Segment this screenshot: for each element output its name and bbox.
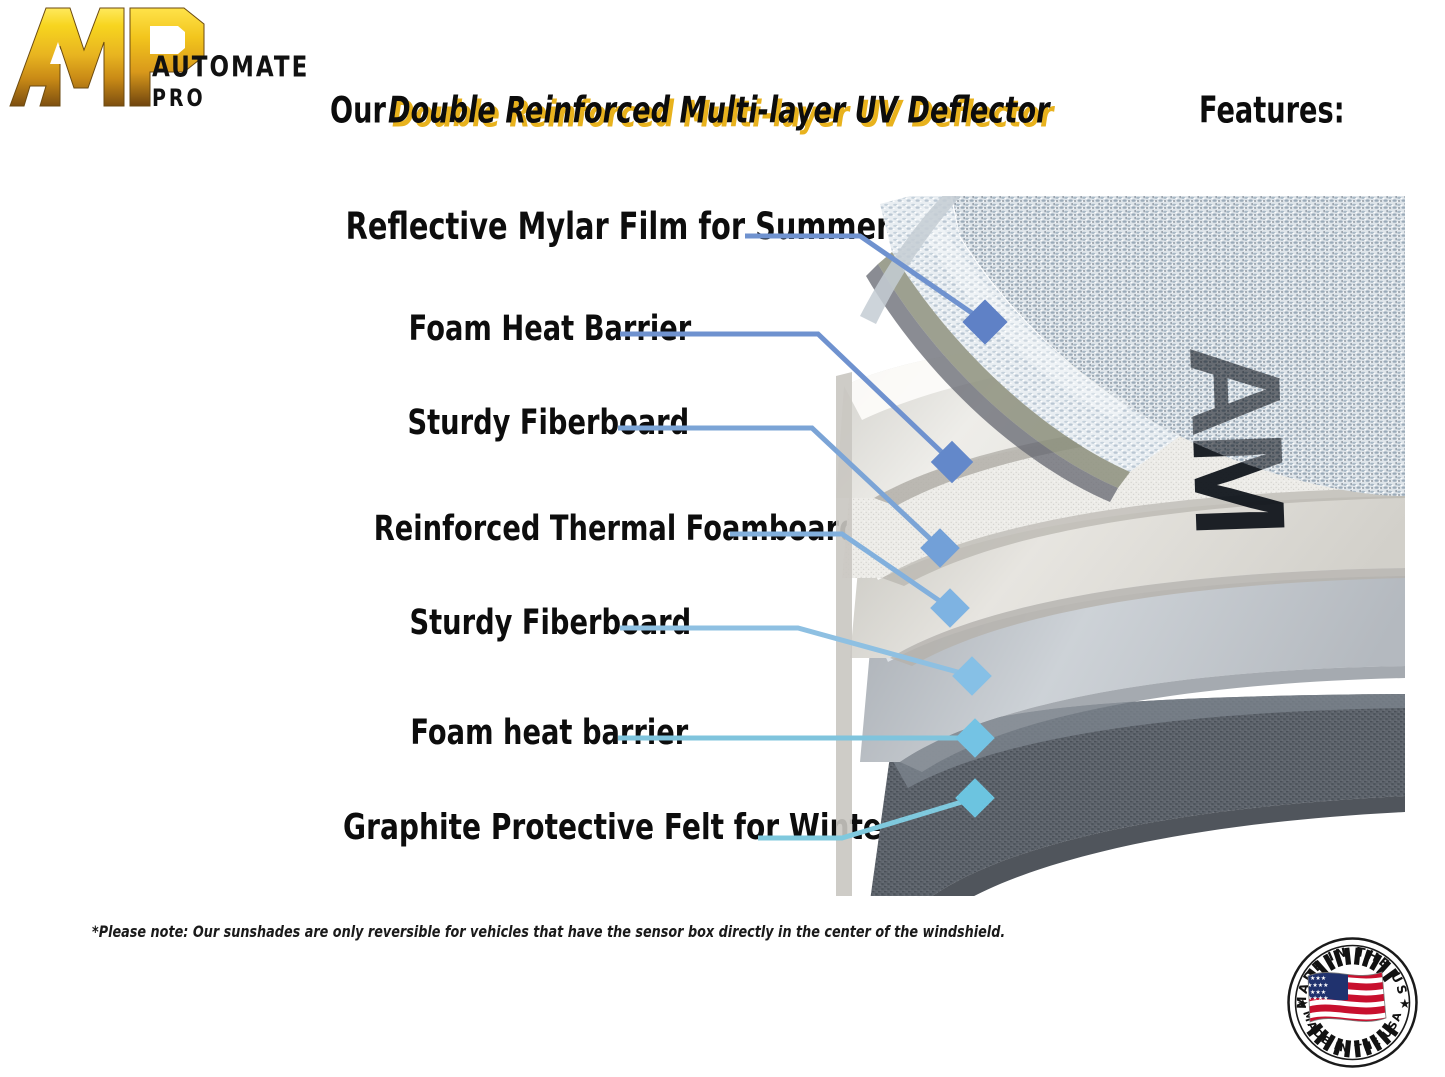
title-prefix: Our — [330, 90, 386, 132]
made-in-usa-badge: ★ ★ MADE IN THE USA MADE IN THE USA ★ — [1286, 936, 1419, 1069]
page-title: Our Double Reinforced Multi-layer UV Def… — [330, 92, 1120, 140]
svg-text:★★★★: ★★★★ — [1307, 982, 1329, 989]
logo-wordmark: AUTOMATE PRO — [150, 54, 335, 116]
layer-label-foam-heat-barrier-top: Foam Heat Barrier — [409, 312, 692, 347]
layer-label-graphite-protective-felt: Graphite Protective Felt for Winter* — [343, 810, 910, 846]
layer-label-sturdy-fiberboard-upper: Sturdy Fiberboard — [408, 406, 690, 441]
layer-label-foam-heat-barrier-bottom: Foam heat barrier — [411, 716, 689, 751]
footnote-text: *Please note: Our sunshades are only rev… — [92, 922, 1005, 941]
title-suffix: Features: — [1199, 90, 1345, 132]
brand-logo: AUTOMATE PRO — [8, 2, 338, 122]
title-emphasis: Double Reinforced Multi-layer UV Deflect… — [388, 92, 1215, 132]
logo-pro-text: PRO — [152, 87, 206, 111]
layer-label-reflective-mylar-film: Reflective Mylar Film for Summer — [346, 208, 891, 245]
badge-star-right: ★ — [1399, 997, 1411, 1012]
sunshade-cutaway-illustration: AM — [830, 196, 1405, 896]
title-emphasis-text: Double Reinforced Multi-layer UV Deflect… — [388, 90, 1050, 132]
product-infographic: AUTOMATE PRO Our Double Reinforced Multi… — [0, 0, 1445, 1077]
logo-automate-text: AUTOMATE — [152, 54, 309, 83]
svg-text:★★★: ★★★ — [1310, 975, 1326, 982]
product-photo-layered-sunshade: AM — [830, 196, 1405, 896]
layer-label-sturdy-fiberboard-lower: Sturdy Fiberboard — [410, 606, 692, 641]
layer-label-reinforced-thermal-foamboard: Reinforced Thermal Foamboard — [374, 512, 859, 547]
svg-text:★★★★: ★★★★ — [1307, 995, 1329, 1002]
